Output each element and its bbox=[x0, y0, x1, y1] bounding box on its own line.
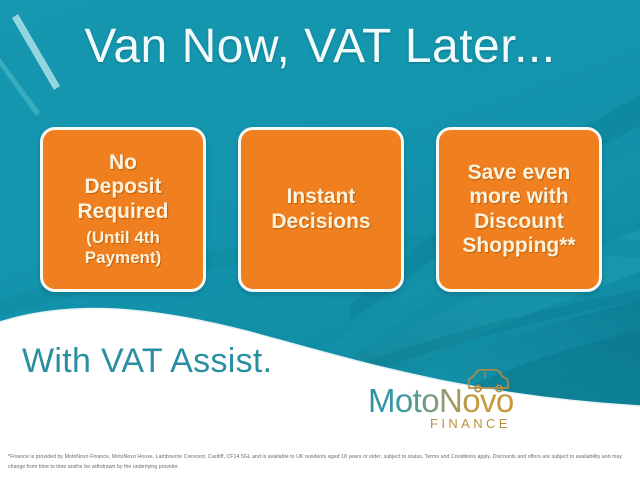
feature-box-main-text: Instant Decisions bbox=[271, 185, 370, 233]
feature-box-group: No Deposit Required (Until 4th Payment) … bbox=[40, 127, 602, 292]
logo-subtitle: FINANCE bbox=[430, 416, 511, 431]
motonovo-logo[interactable]: MotoNovo FINANCE bbox=[368, 368, 528, 434]
feature-box-discount-shopping[interactable]: Save even more with Discount Shopping** bbox=[436, 127, 602, 292]
feature-box-sub-text: (Until 4th Payment) bbox=[85, 228, 162, 268]
advertisement-banner: Van Now, VAT Later... No Deposit Require… bbox=[0, 0, 640, 480]
logo-wordmark: MotoNovo bbox=[368, 384, 514, 417]
disclaimer-text: *Finance is provided by MotoNovo Finance… bbox=[8, 452, 632, 472]
headline: Van Now, VAT Later... bbox=[0, 22, 640, 72]
feature-box-no-deposit[interactable]: No Deposit Required (Until 4th Payment) bbox=[40, 127, 206, 292]
subheadline: With VAT Assist. bbox=[22, 342, 272, 381]
feature-box-main-text: No Deposit Required bbox=[77, 151, 168, 223]
feature-box-instant-decisions[interactable]: Instant Decisions bbox=[238, 127, 404, 292]
feature-box-main-text: Save even more with Discount Shopping** bbox=[462, 161, 575, 258]
